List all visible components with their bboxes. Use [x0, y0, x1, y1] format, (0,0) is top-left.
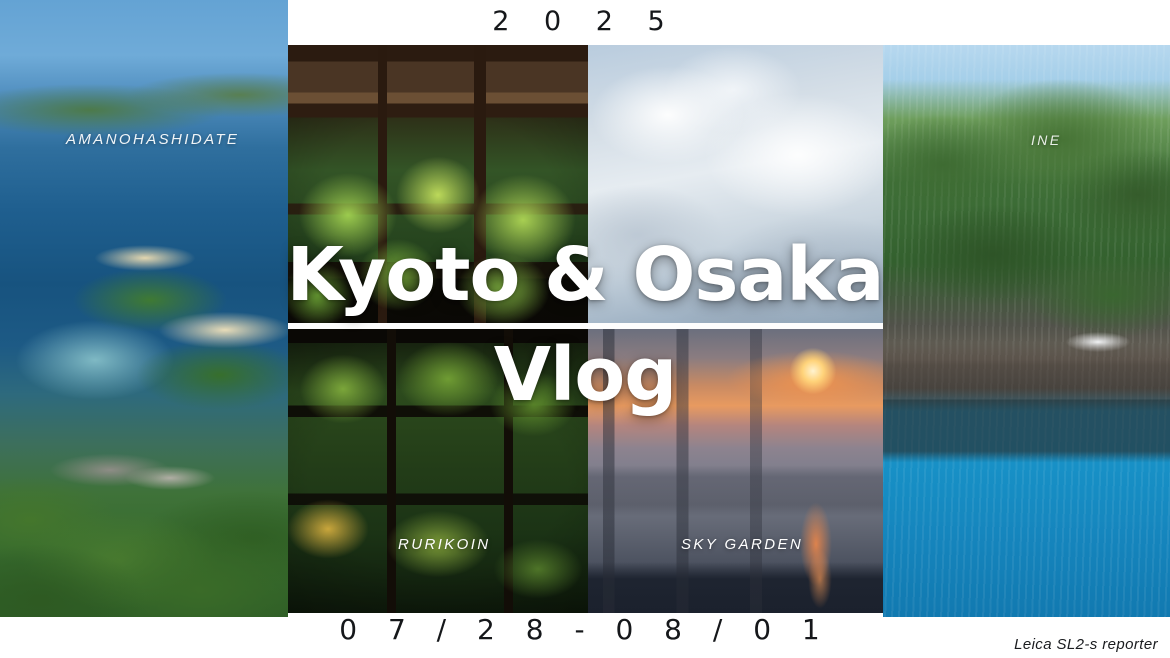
location-label-amanohashidate: AMANOHASHIDATE: [66, 131, 239, 148]
location-label-ine: INE: [1031, 132, 1062, 148]
photo-panel-ine: [883, 45, 1170, 617]
vlog-thumbnail-canvas: { "header": { "year": "2 0 2 5" }, "foot…: [0, 0, 1170, 658]
photo-panel-amanohashidate: [0, 0, 288, 617]
camera-credit-label: Leica SL2-s reporter: [1014, 636, 1158, 653]
photo-panel-clouds: [588, 45, 883, 323]
date-range-label: 0 7 / 2 8 - 0 8 / 0 1: [0, 613, 1170, 646]
location-label-rurikoin: RURIKOIN: [398, 536, 491, 553]
year-label: 2 0 2 5: [0, 6, 1170, 37]
photo-panel-rurikoin-window: [288, 45, 588, 323]
photo-panel-sky-garden: [588, 329, 883, 613]
location-label-sky-garden: SKY GARDEN: [681, 536, 803, 553]
photo-panel-rurikoin-reflection: [288, 329, 588, 613]
center-divider-rule: [288, 323, 883, 329]
